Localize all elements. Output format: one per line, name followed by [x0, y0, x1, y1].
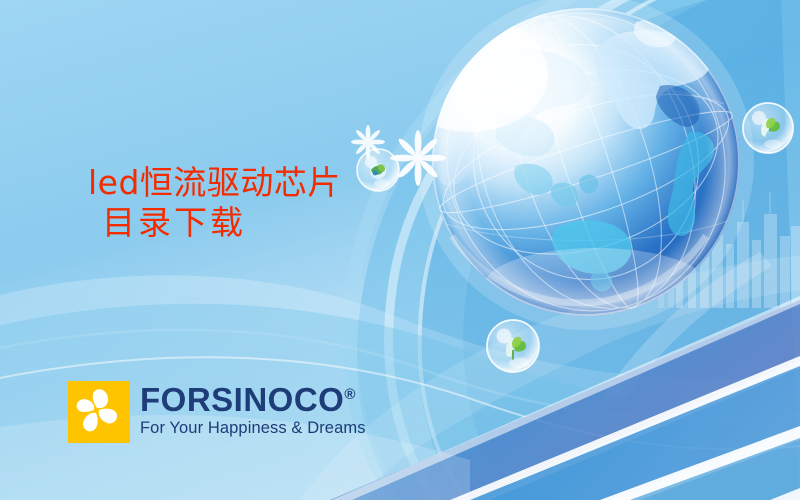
registered-trademark-icon: ® [344, 386, 355, 403]
bubble-with-globe-icon [357, 149, 399, 191]
bubble-with-sprout-icon [487, 320, 539, 372]
pinwheel-flower-glyph [68, 381, 130, 443]
poster-canvas: led恒流驱动芯片 目录下载 FORSINOCO® For Your Happi… [0, 0, 800, 500]
logo-wordmark: FORSINOCO® [140, 383, 366, 416]
brand-logo: FORSINOCO® For Your Happiness & Dreams [68, 381, 366, 443]
logo-wordmark-text: FORSINOCO [140, 381, 344, 418]
headline-line-2: 目录下载 [88, 203, 341, 243]
pinwheel-flower-icon [68, 381, 130, 443]
headline-block: led恒流驱动芯片 目录下载 [88, 163, 341, 244]
bubble-right-edge [743, 103, 793, 153]
logo-tagline: For Your Happiness & Dreams [140, 420, 366, 437]
logo-text-block: FORSINOCO® For Your Happiness & Dreams [140, 381, 366, 437]
headline-line-1: led恒流驱动芯片 [88, 163, 341, 203]
